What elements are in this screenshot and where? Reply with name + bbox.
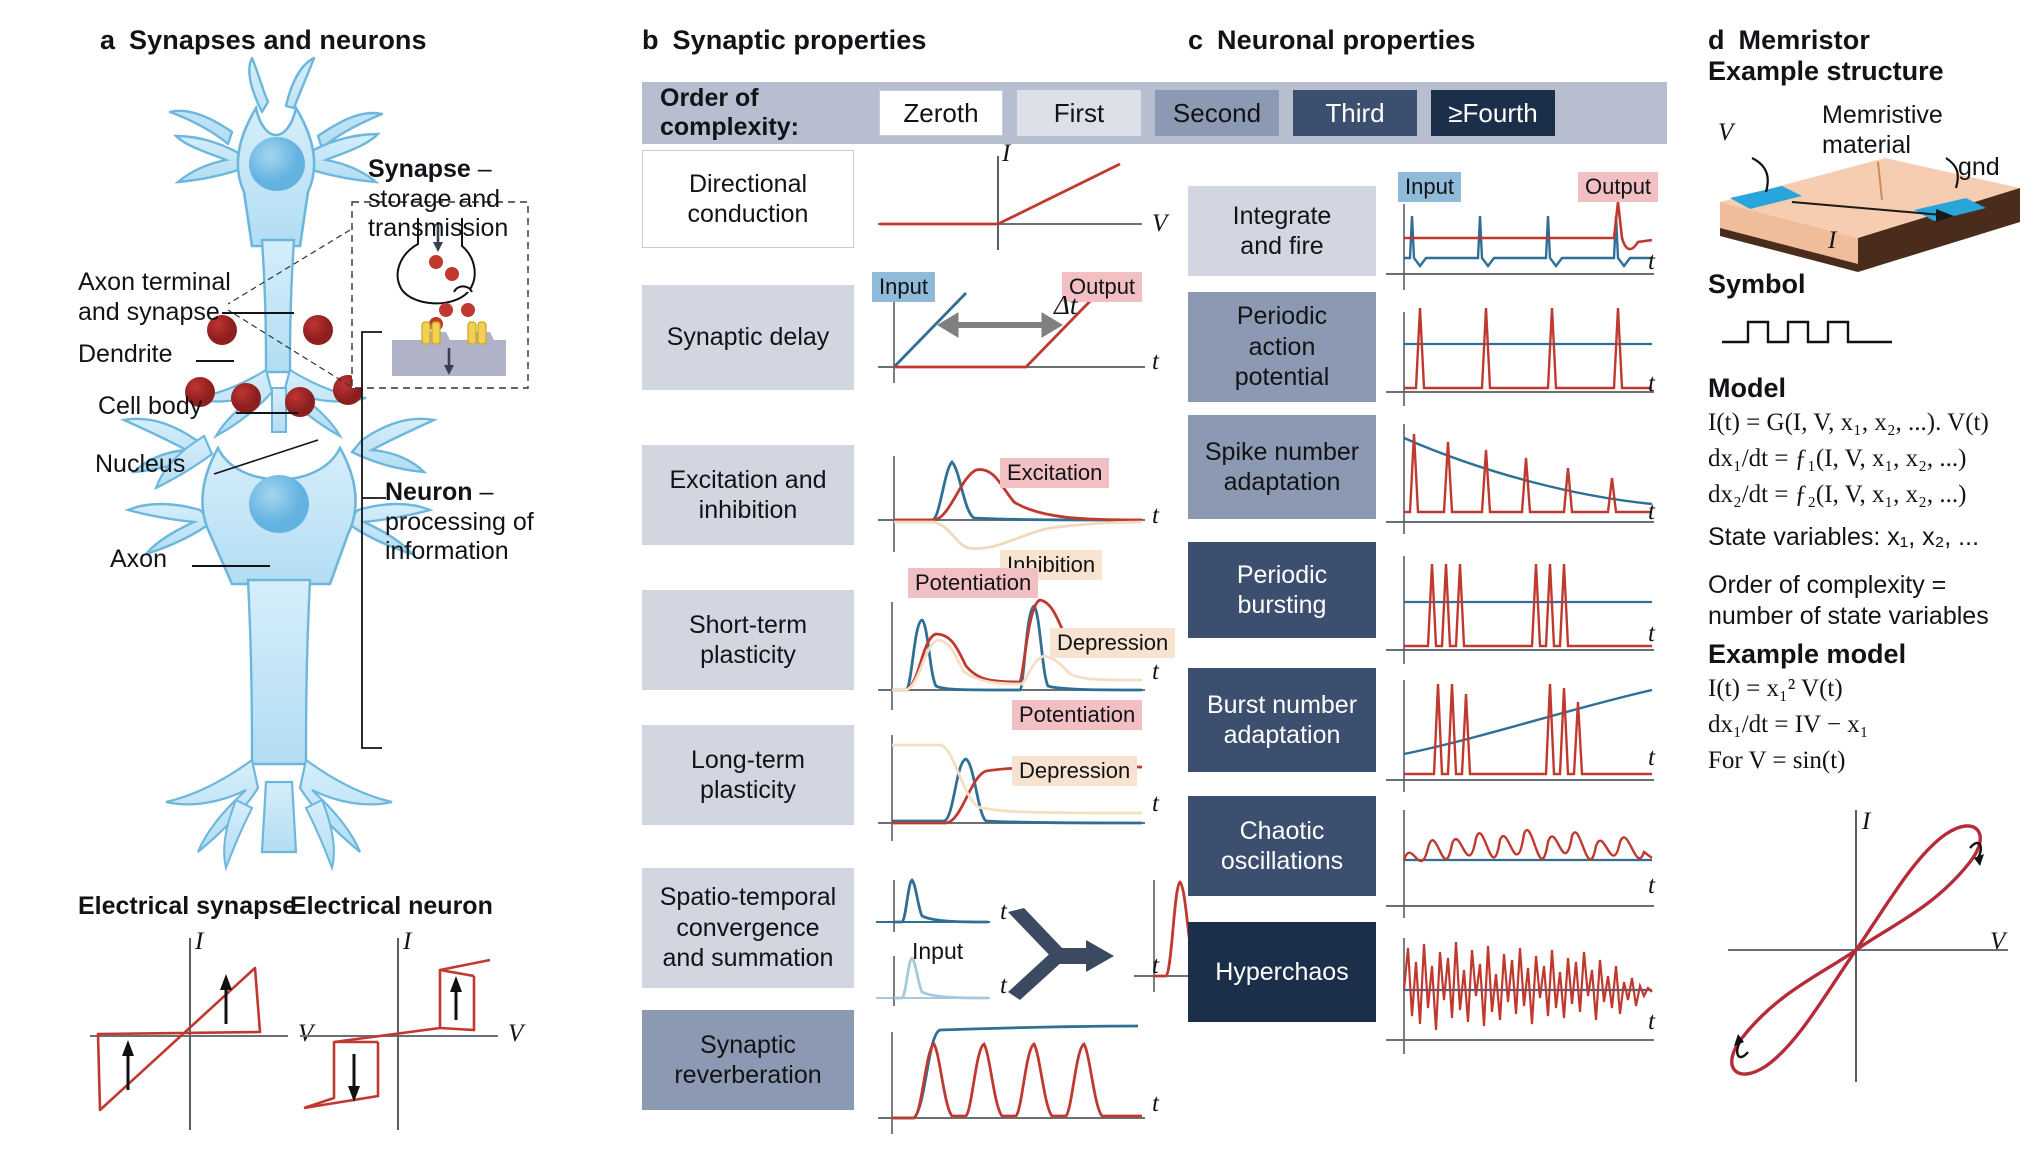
electrical-neuron-xlabel: V [508,1020,523,1048]
synaptic-row-label-5[interactable]: Spatio-temporal convergence and summatio… [642,868,854,988]
gnd-label: gnd [1958,152,2000,182]
label-dendrite: Dendrite [78,340,173,370]
leader-dendrite [196,360,234,362]
memristor-current-label: I [1828,226,1836,256]
symbol-heading: Symbol [1708,268,1806,300]
legend-chip-first[interactable]: First [1017,90,1141,136]
cplot2-xlabel: t [1648,370,1655,398]
plot6-xlabel-bottom: t [1000,972,1007,1000]
order-of-complexity-note: Order of complexity = number of state va… [1708,570,1989,633]
callout-neuron-bold: Neuron [385,478,473,506]
neuronal-row-label-5[interactable]: Chaotic oscillations [1188,796,1376,896]
plot6-xlabel-top: t [1000,898,1007,926]
neuronal-row-label-1[interactable]: Periodic action potential [1188,292,1376,402]
leader-axon [192,565,270,567]
legend-chip-second[interactable]: Second [1155,90,1279,136]
plot-periodic-bursting [1382,542,1672,672]
memristive-material-label: Memristive material [1822,100,1943,160]
plot-burst-number-adaptation [1382,668,1672,798]
panel-b-title: Synaptic properties [673,25,927,56]
plot1-ylabel: I [1002,140,1010,168]
plot1-xlabel: V [1152,210,1167,238]
tag-excitation: Excitation [1000,458,1109,488]
cplot5-xlabel: t [1648,744,1655,772]
panel-d-title: Memristor [1739,25,1870,56]
synaptic-row-label-1[interactable]: Synaptic delay [642,285,854,390]
label-axon-terminal: Axon terminal and synapse [78,268,231,327]
state-variables-text: State variables: x₁, x₂, ... [1708,522,1979,553]
model-eq-2: dx₁/dt = ƒ₁(I, V, x₁, x₂, ...) [1708,440,1966,478]
model-eq-3: dx₂/dt = ƒ₂(I, V, x₁, x₂, ...) [1708,476,1966,514]
callout-neuron-rest: processing of information [385,508,534,566]
memristor-iv-plot [1708,800,2028,1090]
synaptic-row-label-6[interactable]: Synaptic reverberation [642,1010,854,1110]
label-nucleus: Nucleus [95,450,185,480]
panel-c-title: Neuronal properties [1217,25,1475,56]
panel-c-letter: c [1188,25,1203,56]
legend-chip-third[interactable]: Third [1293,90,1417,136]
memristor-symbol [1720,308,1920,358]
plot3-xlabel: t [1152,502,1159,530]
leader-axon-terminal [222,312,294,314]
tag-delta-t: Δt [1054,290,1077,321]
order-of-complexity-legend: Order of complexity: ZerothFirstSecondTh… [642,82,1667,144]
cplot3-xlabel: t [1648,498,1655,526]
synaptic-row-label-3[interactable]: Short-term plasticity [642,590,854,690]
plot-synaptic-reverberation [870,1010,1160,1140]
example-eq-3: For V = sin(t) [1708,742,1846,780]
label-cell-body: Cell body [98,392,202,422]
plot4-xlabel: t [1152,658,1159,686]
model-heading: Model [1708,372,1786,404]
plot2-xlabel: t [1152,348,1159,376]
callout-synapse-dash: – [471,155,492,183]
model-eq-1: I(t) = G(I, V, x₁, x₂, ...). V(t) [1708,404,1989,442]
tag-potentiation-stp: Potentiation [908,568,1038,598]
panel-d-header: d Memristor [1708,25,1870,56]
plot-spike-number-adaptation [1382,412,1672,542]
example-eq-2: dx₁/dt = IV − x₁ [1708,706,1868,744]
legend-chip-zeroth[interactable]: Zeroth [879,90,1003,136]
synaptic-row-label-2[interactable]: Excitation and inhibition [642,445,854,545]
leader-cell-body [236,412,298,414]
memristor-v-label: V [1718,118,1733,148]
panel-c-header: c Neuronal properties [1188,25,1475,56]
callout-neuron: Neuron – processing of information [385,478,575,567]
tag-input-iaf: Input [1398,172,1461,202]
electrical-synapse-ylabel: I [195,928,203,956]
plot-directional-conduction [870,150,1160,255]
callout-neuron-dash: – [473,478,494,506]
neuronal-row-label-0[interactable]: Integrate and fire [1188,186,1376,276]
electrical-neuron-title: Electrical neuron [290,892,493,921]
plot5-xlabel: t [1152,790,1159,818]
cplot1-xlabel: t [1648,248,1655,276]
neuronal-row-label-6[interactable]: Hyperchaos [1188,922,1376,1022]
inset-leader-lines [214,228,354,388]
electrical-neuron-plot [290,930,520,1140]
plot-hyperchaos [1382,922,1672,1062]
neuronal-row-label-4[interactable]: Burst number adaptation [1188,668,1376,772]
tag-potentiation-ltp: Potentiation [1012,700,1142,730]
cplot4-xlabel: t [1648,620,1655,648]
panel-b-letter: b [642,25,659,56]
legend-chip-fourth[interactable]: ≥Fourth [1431,90,1555,136]
electrical-synapse-plot [80,930,310,1140]
memristor-iv-xlabel: V [1990,928,2005,956]
leader-nucleus [212,438,322,498]
synaptic-row-label-4[interactable]: Long-term plasticity [642,725,854,825]
legend-caption: Order of complexity: [642,84,857,142]
cplot7-xlabel: t [1648,1008,1655,1036]
plot7-xlabel: t [1152,1090,1159,1118]
cplot6-xlabel: t [1648,872,1655,900]
panel-d-memristor: d Memristor Example structure V Memristi… [1700,0,2033,1175]
callout-synapse-rest: storage and transmission [368,185,508,243]
callout-synapse: Synapse – storage and transmission [368,155,548,244]
synaptic-row-label-0[interactable]: Directional conduction [642,150,854,248]
plot-integrate-and-fire [1382,186,1672,296]
plot6-xlabel-out: t [1152,952,1159,980]
plot-periodic-action-potential [1382,292,1672,412]
label-axon: Axon [110,545,167,575]
tag-input-spatiotemporal: Input [912,938,963,965]
panel-d-subtitle: Example structure [1708,55,1944,87]
tag-output-iaf: Output [1578,172,1658,202]
electrical-neuron-ylabel: I [403,928,411,956]
panel-b-header: b Synaptic properties [642,25,926,56]
example-model-heading: Example model [1708,638,1906,670]
callout-synapse-bold: Synapse [368,155,471,183]
tag-input-delay: Input [872,272,935,302]
panel-d-letter: d [1708,25,1725,56]
neuronal-row-label-2[interactable]: Spike number adaptation [1188,415,1376,519]
neuronal-row-label-3[interactable]: Periodic bursting [1188,542,1376,638]
tag-depression-ltp: Depression [1012,756,1137,786]
tag-depression-stp: Depression [1050,628,1175,658]
electrical-synapse-title: Electrical synapse [78,892,296,921]
example-eq-1: I(t) = x₁² V(t) [1708,670,1843,708]
memristor-iv-ylabel: I [1862,808,1870,836]
plot-chaotic-oscillations [1382,796,1672,926]
panel-a-synapses-and-neurons: a Synapses and neurons [0,0,620,1175]
legend-chip-list: ZerothFirstSecondThird≥Fourth [879,90,1569,136]
neuron-bracket [348,330,388,750]
